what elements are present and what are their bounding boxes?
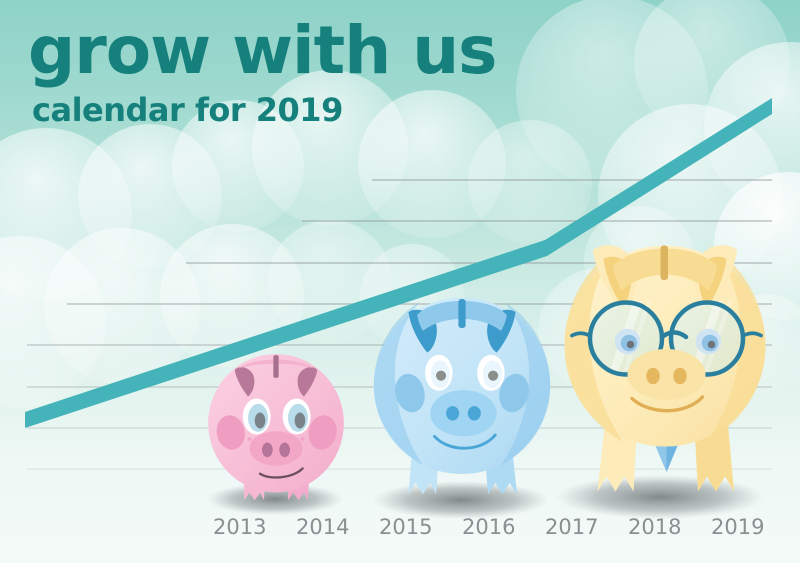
large-yellow-piggy-bank[interactable] <box>560 232 770 502</box>
coin-slot <box>273 355 278 378</box>
year-label-2013: 2013 <box>213 515 266 539</box>
coin-slot <box>458 299 465 328</box>
pink-eye-right <box>283 399 311 435</box>
blue-eye-left <box>425 355 452 391</box>
year-label-2018: 2018 <box>628 515 681 539</box>
year-label-2015: 2015 <box>379 515 432 539</box>
coin-slot <box>661 246 669 281</box>
year-axis: 2013201420152016201720182019 <box>0 515 800 549</box>
poster-canvas: grow with us calendar for 2019 201320142… <box>0 0 800 563</box>
blue-eye-right <box>477 355 504 391</box>
medium-blue-piggy-bank[interactable] <box>368 286 556 503</box>
year-label-2014: 2014 <box>296 515 349 539</box>
yellow-snout <box>628 349 706 400</box>
blue-nostril-right <box>468 406 481 420</box>
pink-eye-left <box>243 399 271 435</box>
page-title: grow with us <box>28 18 496 84</box>
yellow-nostril-left <box>646 368 660 385</box>
pink-nostril-right <box>279 442 290 457</box>
year-label-2017: 2017 <box>545 515 598 539</box>
small-pink-piggy-bank[interactable] <box>196 338 356 511</box>
yellow-eye-right <box>696 329 722 355</box>
year-label-2016: 2016 <box>462 515 515 539</box>
pink-nostril-left <box>262 442 273 457</box>
blue-nostril-left <box>446 406 459 420</box>
title-block: grow with us calendar for 2019 <box>28 18 496 126</box>
yellow-eye-left <box>615 329 641 355</box>
year-label-2019: 2019 <box>711 515 764 539</box>
page-subtitle: calendar for 2019 <box>32 94 496 126</box>
yellow-nostril-right <box>673 368 687 385</box>
blue-snout <box>430 390 497 436</box>
pink-snout <box>249 431 302 466</box>
